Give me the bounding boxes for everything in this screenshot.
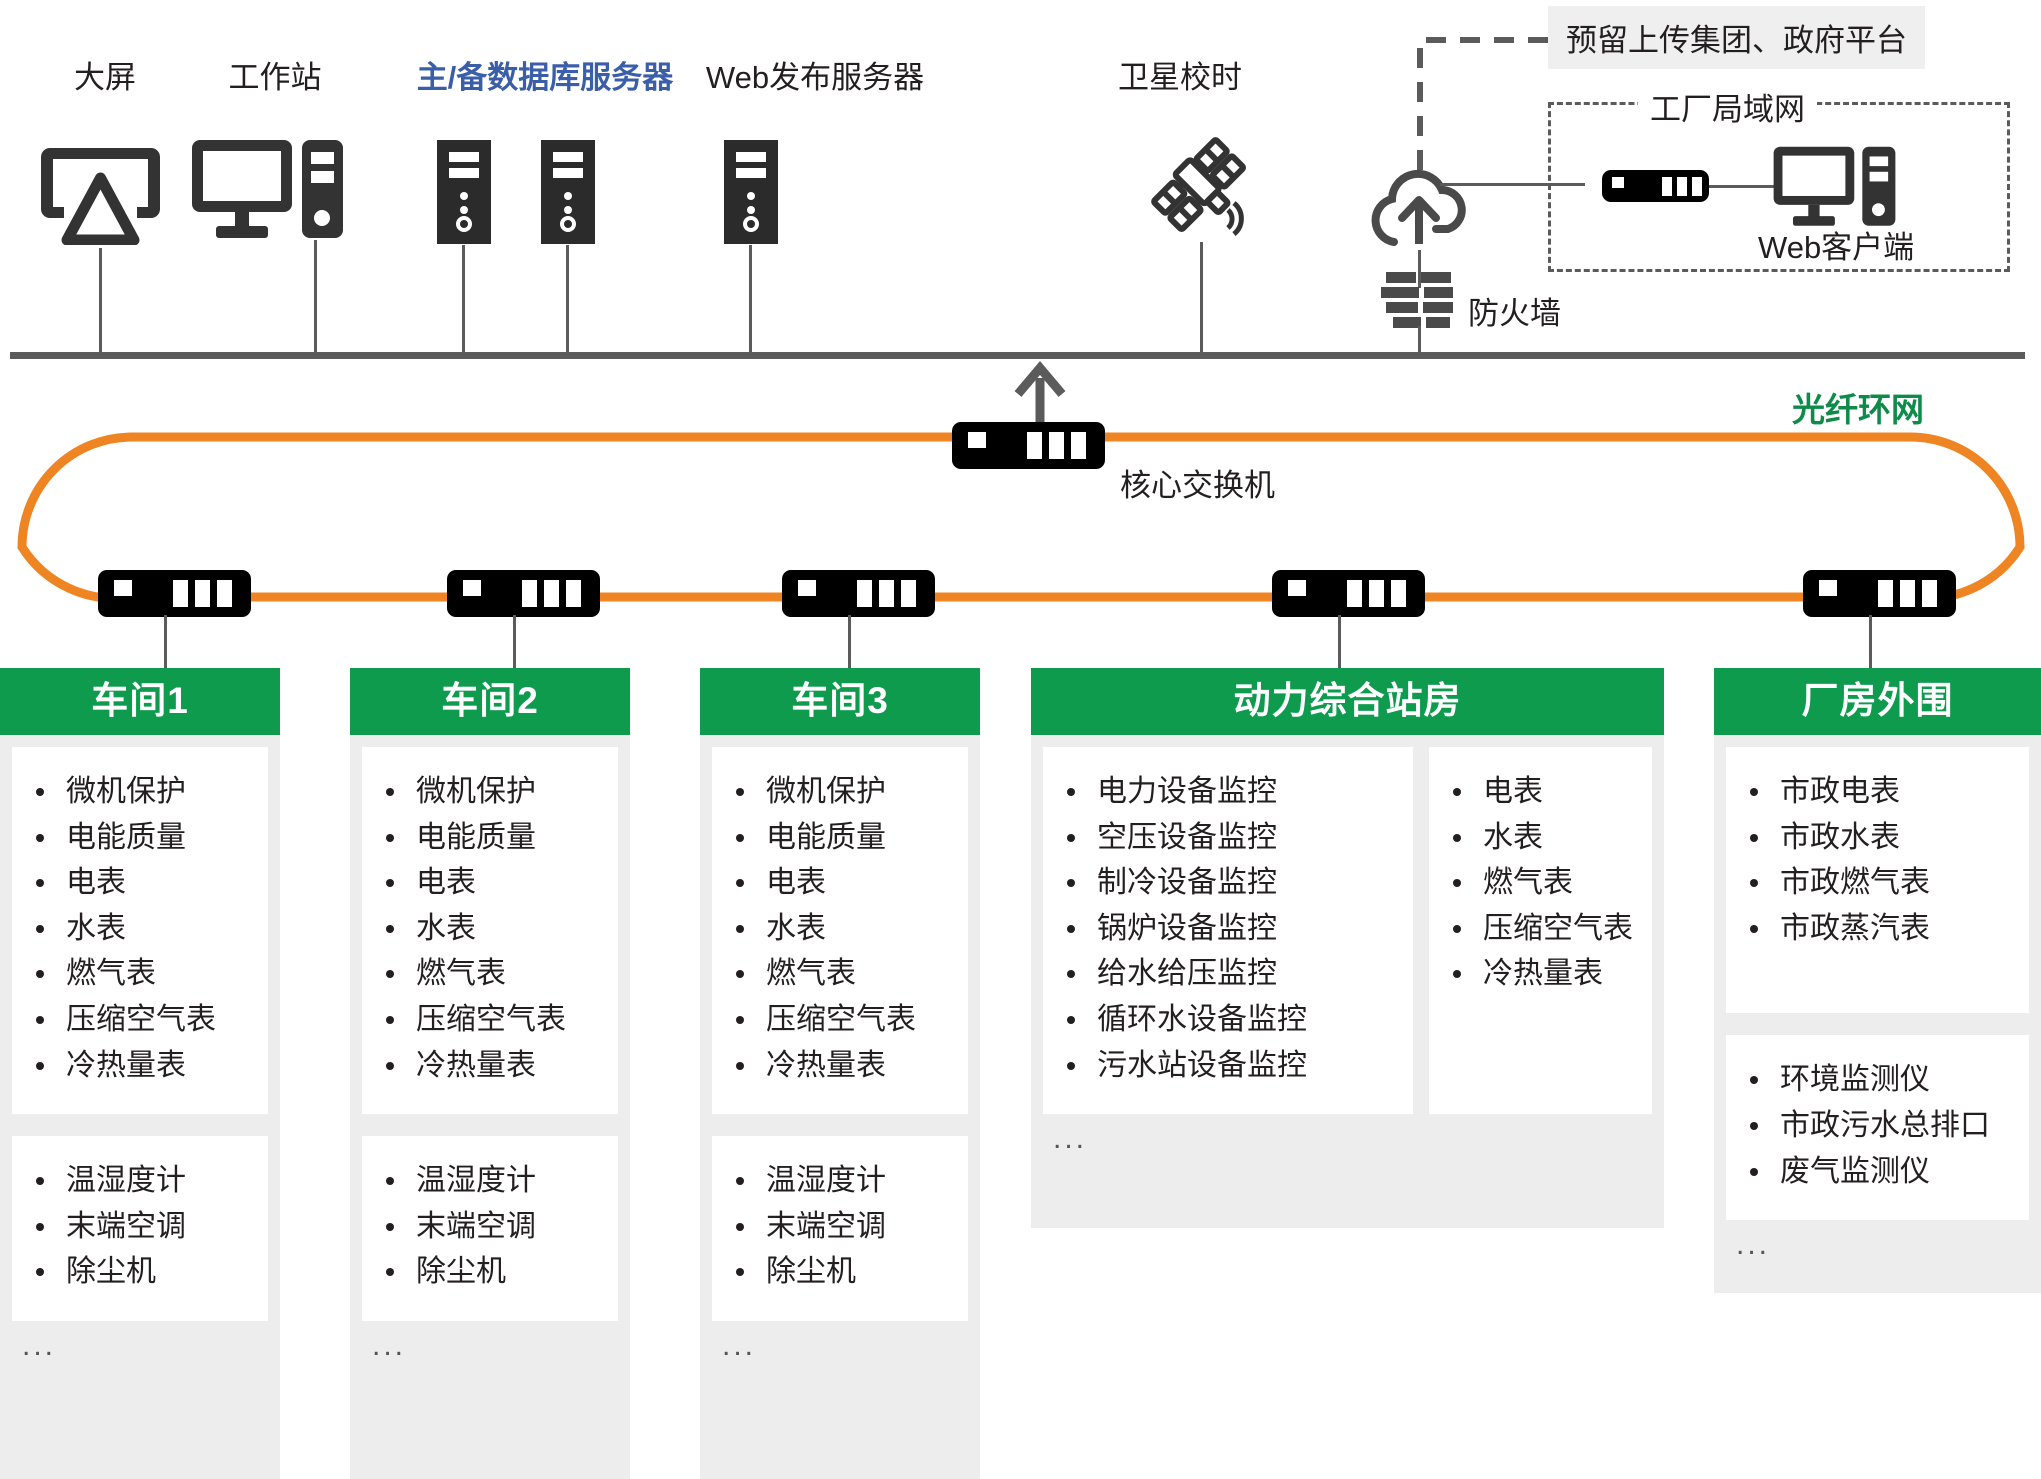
group-ellipsis: ... bbox=[700, 1321, 980, 1369]
group-title-workshop-1: 车间1 bbox=[0, 668, 280, 735]
core-switch-label: 核心交换机 bbox=[1120, 460, 1275, 505]
group-panel-secondary: 温湿度计 末端空调 除尘机 bbox=[362, 1136, 618, 1321]
list-item: 冷热量表 bbox=[1439, 951, 1642, 997]
group-card-workshop-1: 车间1 微机保护 电能质量 电表 水表 燃气表 压缩空气表 冷热量表 温湿度计 … bbox=[0, 668, 280, 1479]
drop-line-plant-perimeter bbox=[1869, 615, 1872, 671]
group-panel-primary: 微机保护 电能质量 电表 水表 燃气表 压缩空气表 冷热量表 bbox=[362, 747, 618, 1114]
list-item: 循环水设备监控 bbox=[1053, 997, 1403, 1043]
group-panel-primary: 电力设备监控 空压设备监控 制冷设备监控 锅炉设备监控 给水给压监控 循环水设备… bbox=[1043, 747, 1413, 1114]
list-item: 燃气表 bbox=[722, 951, 958, 997]
device-list: 微机保护 电能质量 电表 水表 燃气表 压缩空气表 冷热量表 bbox=[22, 769, 258, 1088]
list-item: 冷热量表 bbox=[372, 1043, 608, 1089]
list-item: 末端空调 bbox=[722, 1204, 958, 1250]
list-item: 水表 bbox=[22, 906, 258, 952]
list-item: 末端空调 bbox=[22, 1204, 258, 1250]
group-title-plant-perimeter: 厂房外围 bbox=[1714, 668, 2041, 735]
group-title-workshop-3: 车间3 bbox=[700, 668, 980, 735]
group-panel-primary: 市政电表 市政水表 市政燃气表 市政蒸汽表 bbox=[1726, 747, 2029, 1013]
list-item: 电表 bbox=[1439, 769, 1642, 815]
device-list-extra: 环境监测仪 市政污水总排口 废气监测仪 bbox=[1736, 1057, 2019, 1194]
group-panel-secondary: 温湿度计 末端空调 除尘机 bbox=[712, 1136, 968, 1321]
ring-switch-workshop-2[interactable] bbox=[447, 570, 600, 617]
device-list-extra: 温湿度计 末端空调 除尘机 bbox=[372, 1158, 608, 1295]
group-panel-secondary: 环境监测仪 市政污水总排口 废气监测仪 bbox=[1726, 1035, 2029, 1220]
ring-switch-workshop-3[interactable] bbox=[782, 570, 935, 617]
list-item: 电能质量 bbox=[722, 815, 958, 861]
group-panel-meters: 电表 水表 燃气表 压缩空气表 冷热量表 bbox=[1429, 747, 1652, 1114]
list-item: 环境监测仪 bbox=[1736, 1057, 2019, 1103]
list-item: 微机保护 bbox=[372, 769, 608, 815]
group-card-workshop-2: 车间2 微机保护 电能质量 电表 水表 燃气表 压缩空气表 冷热量表 温湿度计 … bbox=[350, 668, 630, 1479]
group-title-workshop-2: 车间2 bbox=[350, 668, 630, 735]
list-item: 废气监测仪 bbox=[1736, 1149, 2019, 1195]
group-panel-primary: 微机保护 电能质量 电表 水表 燃气表 压缩空气表 冷热量表 bbox=[712, 747, 968, 1114]
group-card-plant-perimeter: 厂房外围 市政电表 市政水表 市政燃气表 市政蒸汽表 环境监测仪 市政污水总排口… bbox=[1714, 668, 2041, 1293]
list-item: 制冷设备监控 bbox=[1053, 860, 1403, 906]
list-item: 污水站设备监控 bbox=[1053, 1043, 1403, 1089]
drop-line-workshop-1 bbox=[164, 615, 167, 671]
drop-line-workshop-2 bbox=[513, 615, 516, 671]
group-panel-secondary: 温湿度计 末端空调 除尘机 bbox=[12, 1136, 268, 1321]
group-panel-primary: 微机保护 电能质量 电表 水表 燃气表 压缩空气表 冷热量表 bbox=[12, 747, 268, 1114]
list-item: 给水给压监控 bbox=[1053, 951, 1403, 997]
list-item: 压缩空气表 bbox=[722, 997, 958, 1043]
list-item: 市政蒸汽表 bbox=[1736, 906, 2019, 952]
list-item: 冷热量表 bbox=[22, 1043, 258, 1089]
list-item: 温湿度计 bbox=[22, 1158, 258, 1204]
device-list-extra: 温湿度计 末端空调 除尘机 bbox=[722, 1158, 958, 1295]
device-list-meters: 电表 水表 燃气表 压缩空气表 冷热量表 bbox=[1439, 769, 1642, 997]
list-item: 锅炉设备监控 bbox=[1053, 906, 1403, 952]
list-item: 燃气表 bbox=[22, 951, 258, 997]
list-item: 微机保护 bbox=[722, 769, 958, 815]
list-item: 微机保护 bbox=[22, 769, 258, 815]
list-item: 电力设备监控 bbox=[1053, 769, 1403, 815]
device-list: 市政电表 市政水表 市政燃气表 市政蒸汽表 bbox=[1736, 769, 2019, 951]
list-item: 燃气表 bbox=[1439, 860, 1642, 906]
list-item: 压缩空气表 bbox=[1439, 906, 1642, 952]
list-item: 电能质量 bbox=[22, 815, 258, 861]
list-item: 压缩空气表 bbox=[372, 997, 608, 1043]
list-item: 水表 bbox=[1439, 815, 1642, 861]
group-card-workshop-3: 车间3 微机保护 电能质量 电表 水表 燃气表 压缩空气表 冷热量表 温湿度计 … bbox=[700, 668, 980, 1479]
device-list: 微机保护 电能质量 电表 水表 燃气表 压缩空气表 冷热量表 bbox=[722, 769, 958, 1088]
list-item: 电表 bbox=[722, 860, 958, 906]
core-switch-icon[interactable] bbox=[952, 422, 1105, 469]
list-item: 压缩空气表 bbox=[22, 997, 258, 1043]
device-list-extra: 温湿度计 末端空调 除尘机 bbox=[22, 1158, 258, 1295]
list-item: 除尘机 bbox=[22, 1249, 258, 1295]
device-list: 微机保护 电能质量 电表 水表 燃气表 压缩空气表 冷热量表 bbox=[372, 769, 608, 1088]
group-ellipsis: ... bbox=[350, 1321, 630, 1369]
list-item: 市政水表 bbox=[1736, 815, 2019, 861]
group-ellipsis: ... bbox=[0, 1321, 280, 1369]
list-item: 冷热量表 bbox=[722, 1043, 958, 1089]
list-item: 市政污水总排口 bbox=[1736, 1103, 2019, 1149]
group-card-power-station: 动力综合站房 电力设备监控 空压设备监控 制冷设备监控 锅炉设备监控 给水给压监… bbox=[1031, 668, 1664, 1228]
list-item: 电表 bbox=[372, 860, 608, 906]
list-item: 燃气表 bbox=[372, 951, 608, 997]
drop-line-power-station bbox=[1338, 615, 1341, 671]
fiber-ring-label: 光纤环网 bbox=[1792, 383, 1924, 431]
list-item: 温湿度计 bbox=[372, 1158, 608, 1204]
device-list: 电力设备监控 空压设备监控 制冷设备监控 锅炉设备监控 给水给压监控 循环水设备… bbox=[1053, 769, 1403, 1088]
list-item: 除尘机 bbox=[722, 1249, 958, 1295]
list-item: 水表 bbox=[372, 906, 608, 952]
ring-switch-power-station[interactable] bbox=[1272, 570, 1425, 617]
group-ellipsis: ... bbox=[1714, 1220, 2041, 1268]
drop-line-workshop-3 bbox=[848, 615, 851, 671]
ring-switch-workshop-1[interactable] bbox=[98, 570, 251, 617]
list-item: 末端空调 bbox=[372, 1204, 608, 1250]
list-item: 电表 bbox=[22, 860, 258, 906]
ring-switch-plant-perimeter[interactable] bbox=[1803, 570, 1956, 617]
list-item: 水表 bbox=[722, 906, 958, 952]
list-item: 除尘机 bbox=[372, 1249, 608, 1295]
list-item: 市政电表 bbox=[1736, 769, 2019, 815]
list-item: 市政燃气表 bbox=[1736, 860, 2019, 906]
list-item: 空压设备监控 bbox=[1053, 815, 1403, 861]
list-item: 电能质量 bbox=[372, 815, 608, 861]
group-ellipsis: ... bbox=[1031, 1114, 1664, 1162]
group-title-power-station: 动力综合站房 bbox=[1031, 668, 1664, 735]
list-item: 温湿度计 bbox=[722, 1158, 958, 1204]
